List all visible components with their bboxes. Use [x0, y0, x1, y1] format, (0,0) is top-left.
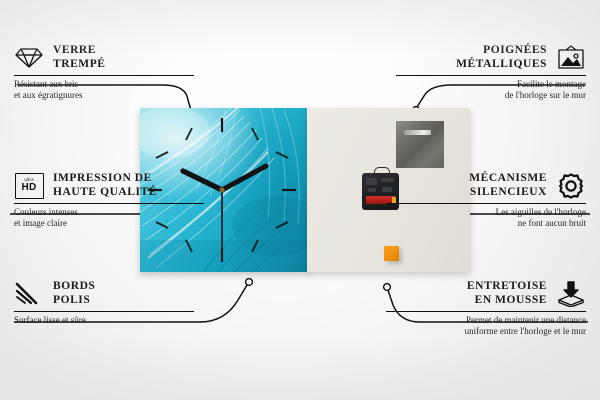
marker-7	[186, 240, 192, 252]
feature-entretoise-en-mousse: ENTRETOISE EN MOUSSE Permet de maintenir…	[386, 280, 586, 337]
diamond-icon	[14, 45, 44, 71]
feature-impression-haute-qualite: ultra HD IMPRESSION DE HAUTE QUALITÉ Cou…	[14, 172, 204, 229]
marker-10	[156, 152, 168, 158]
marker-2	[276, 152, 288, 158]
feature-title: POIGNÉES MÉTALLIQUES	[456, 44, 547, 71]
metal-handle-slot	[404, 130, 431, 135]
mechanism-detail	[368, 188, 376, 192]
ultra-hd-icon-main-label: HD	[21, 183, 36, 193]
feature-divider	[14, 203, 204, 204]
feature-divider	[14, 311, 194, 312]
feature-title: MÉCANISME SILENCIEUX	[469, 172, 547, 199]
marker-4	[276, 222, 288, 228]
feature-title: ENTRETOISE EN MOUSSE	[467, 280, 547, 307]
gear-icon	[556, 173, 586, 199]
metal-handle-closeup	[396, 121, 444, 168]
feature-title: BORDS POLIS	[53, 280, 95, 307]
feature-divider	[386, 203, 586, 204]
feature-poignees-metalliques: POIGNÉES MÉTALLIQUES Facilite le montage…	[396, 44, 586, 101]
marker-1	[252, 128, 258, 140]
feature-divider	[396, 75, 586, 76]
feature-description: Facilite le montage de l'horloge sur le …	[396, 79, 586, 101]
marker-5	[252, 240, 258, 252]
feature-divider	[14, 75, 194, 76]
polished-edges-icon	[14, 281, 44, 307]
clock-center-cap	[219, 187, 224, 192]
feature-description: Surface lisse et sûre	[14, 315, 194, 326]
ultra-hd-icon: ultra HD	[14, 173, 44, 199]
foam-spacer-sample	[384, 246, 399, 261]
framed-picture-icon	[556, 45, 586, 71]
feature-title: IMPRESSION DE HAUTE QUALITÉ	[53, 172, 157, 199]
clock-hand-minute	[222, 166, 266, 190]
marker-11	[186, 128, 192, 140]
feature-description: Permet de maintenir une distance uniform…	[386, 315, 586, 337]
feature-description: Les aiguilles de l'horloge ne font aucun…	[386, 207, 586, 229]
feature-mecanisme-silencieux: MÉCANISME SILENCIEUX Les aiguilles de l'…	[386, 172, 586, 229]
feature-divider	[386, 311, 586, 312]
infographic-canvas: VERRE TREMPÉ Résistant aux bris et aux é…	[0, 0, 600, 400]
feature-verre-trempe: VERRE TREMPÉ Résistant aux bris et aux é…	[14, 44, 194, 101]
connector-endpoint-bords-polis	[246, 279, 253, 286]
feature-title: VERRE TREMPÉ	[53, 44, 106, 71]
feature-bords-polis: BORDS POLIS Surface lisse et sûre	[14, 280, 194, 326]
foam-spacer-arrow-icon	[556, 281, 586, 307]
feature-description: Couleurs intenses et image claire	[14, 207, 204, 229]
feature-description: Résistant aux bris et aux égratignures	[14, 79, 194, 101]
mechanism-detail	[366, 178, 377, 185]
